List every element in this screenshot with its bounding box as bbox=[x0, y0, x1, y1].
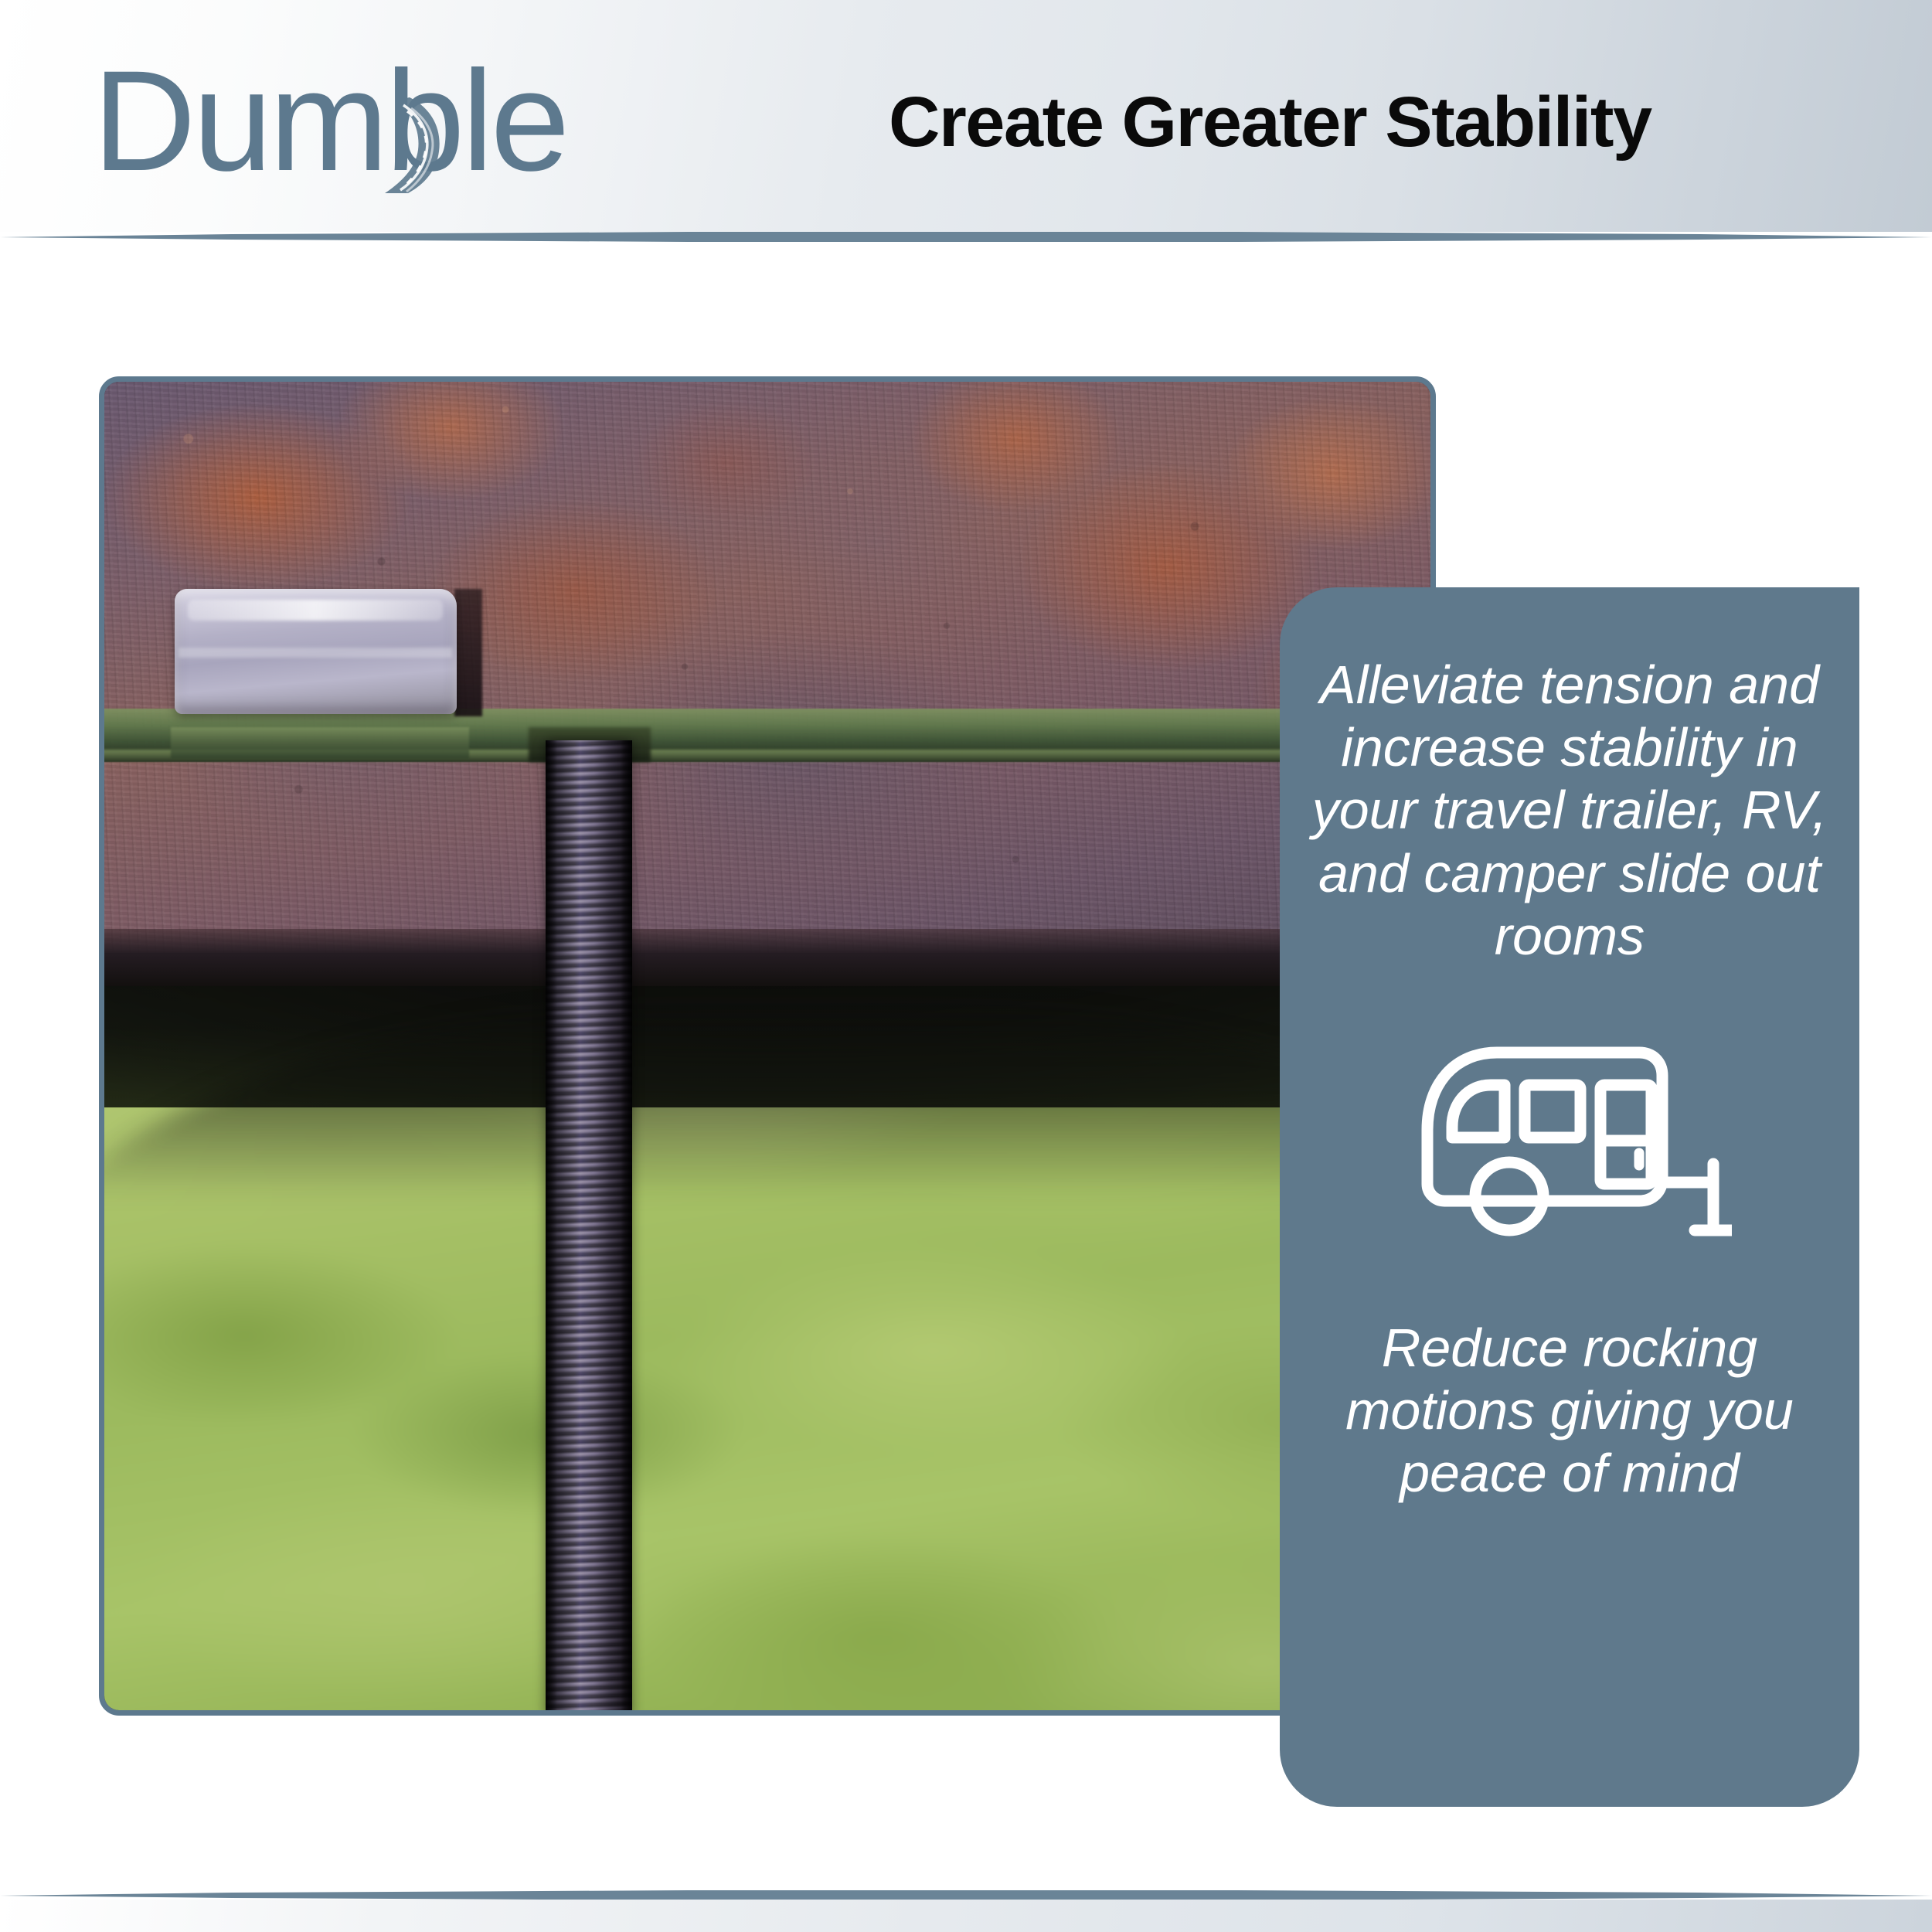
bracket-plate-step bbox=[171, 727, 469, 759]
page-title: Create Greater Stability bbox=[889, 87, 1878, 158]
benefit-text-primary: Alleviate tension and increase stability… bbox=[1311, 654, 1828, 968]
logo-wordmark: Dumble bbox=[93, 60, 566, 199]
clamp-band-highlight bbox=[179, 648, 451, 658]
brand-logo[interactable]: Dumble bbox=[93, 60, 726, 199]
threaded-rod bbox=[546, 740, 632, 1710]
logo-svg: Dumble bbox=[93, 60, 726, 199]
rod-thread-texture bbox=[546, 740, 632, 1710]
rod-right-shade bbox=[621, 740, 631, 1710]
rod-left-shade bbox=[546, 740, 556, 1710]
clamp-highlight bbox=[188, 600, 442, 621]
beam-bottom-lip bbox=[104, 929, 1430, 986]
benefits-callout-panel: Alleviate tension and increase stability… bbox=[1280, 587, 1859, 1807]
footer-band bbox=[0, 1900, 1932, 1932]
clamp-beam-gap bbox=[454, 589, 482, 716]
benefit-text-secondary: Reduce rocking motions giving you peace … bbox=[1311, 1317, 1828, 1505]
travel-trailer-icon bbox=[1407, 1039, 1732, 1246]
infographic-page: Dumble Create Greater Stability bbox=[0, 0, 1932, 1932]
product-photo bbox=[99, 376, 1436, 1716]
travel-trailer-icon-wrap bbox=[1311, 1039, 1828, 1246]
product-photo-canvas bbox=[104, 382, 1430, 1710]
